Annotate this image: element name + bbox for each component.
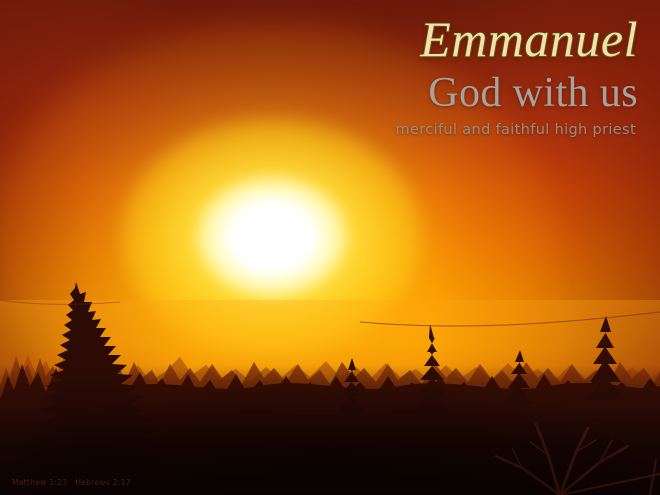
page-title: Emmanuel [396,14,638,64]
poster-image: Emmanuel God with us merciful and faithf… [0,0,660,495]
scripture-citation: Matthew 1:23 Hebrews 2:17 [12,478,131,487]
page-tagline: merciful and faithful high priest [396,123,636,138]
title-block: Emmanuel God with us merciful and faithf… [396,14,638,138]
page-subtitle: God with us [396,72,638,114]
